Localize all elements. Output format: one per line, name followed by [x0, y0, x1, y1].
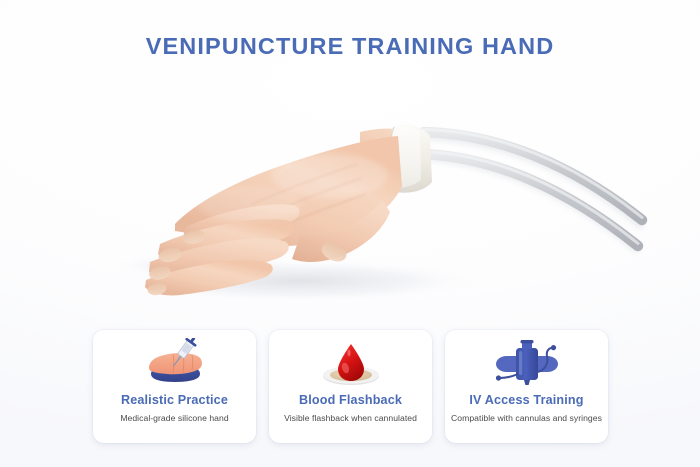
hero-image-area [0, 96, 700, 326]
feature-card-realistic-practice[interactable]: Realistic Practice Medical-grade silicon… [93, 330, 256, 443]
feature-card-iv-access-training[interactable]: IV Access Training Compatible with cannu… [445, 330, 608, 443]
hand-syringe-icon [129, 338, 221, 388]
feature-card-subtitle: Medical-grade silicone hand [120, 413, 228, 423]
feature-card-title: IV Access Training [469, 393, 583, 407]
feature-card-subtitle: Compatible with cannulas and syringes [451, 413, 602, 423]
blood-drop-icon [305, 338, 397, 388]
page-title: VENIPUNCTURE TRAINING HAND [0, 33, 700, 60]
blood-drop-shape [338, 344, 364, 381]
feature-card-title: Realistic Practice [121, 393, 228, 407]
product-feature-page: VENIPUNCTURE TRAINING HAND [0, 0, 700, 467]
feature-card-title: Blood Flashback [299, 393, 402, 407]
iv-bottle-icon [481, 338, 573, 388]
venipuncture-training-hand-photo [0, 96, 700, 326]
feature-card-subtitle: Visible flashback when cannulated [284, 413, 417, 423]
feature-card-row: Realistic Practice Medical-grade silicon… [93, 330, 608, 443]
feature-card-blood-flashback[interactable]: Blood Flashback Visible flashback when c… [269, 330, 432, 443]
